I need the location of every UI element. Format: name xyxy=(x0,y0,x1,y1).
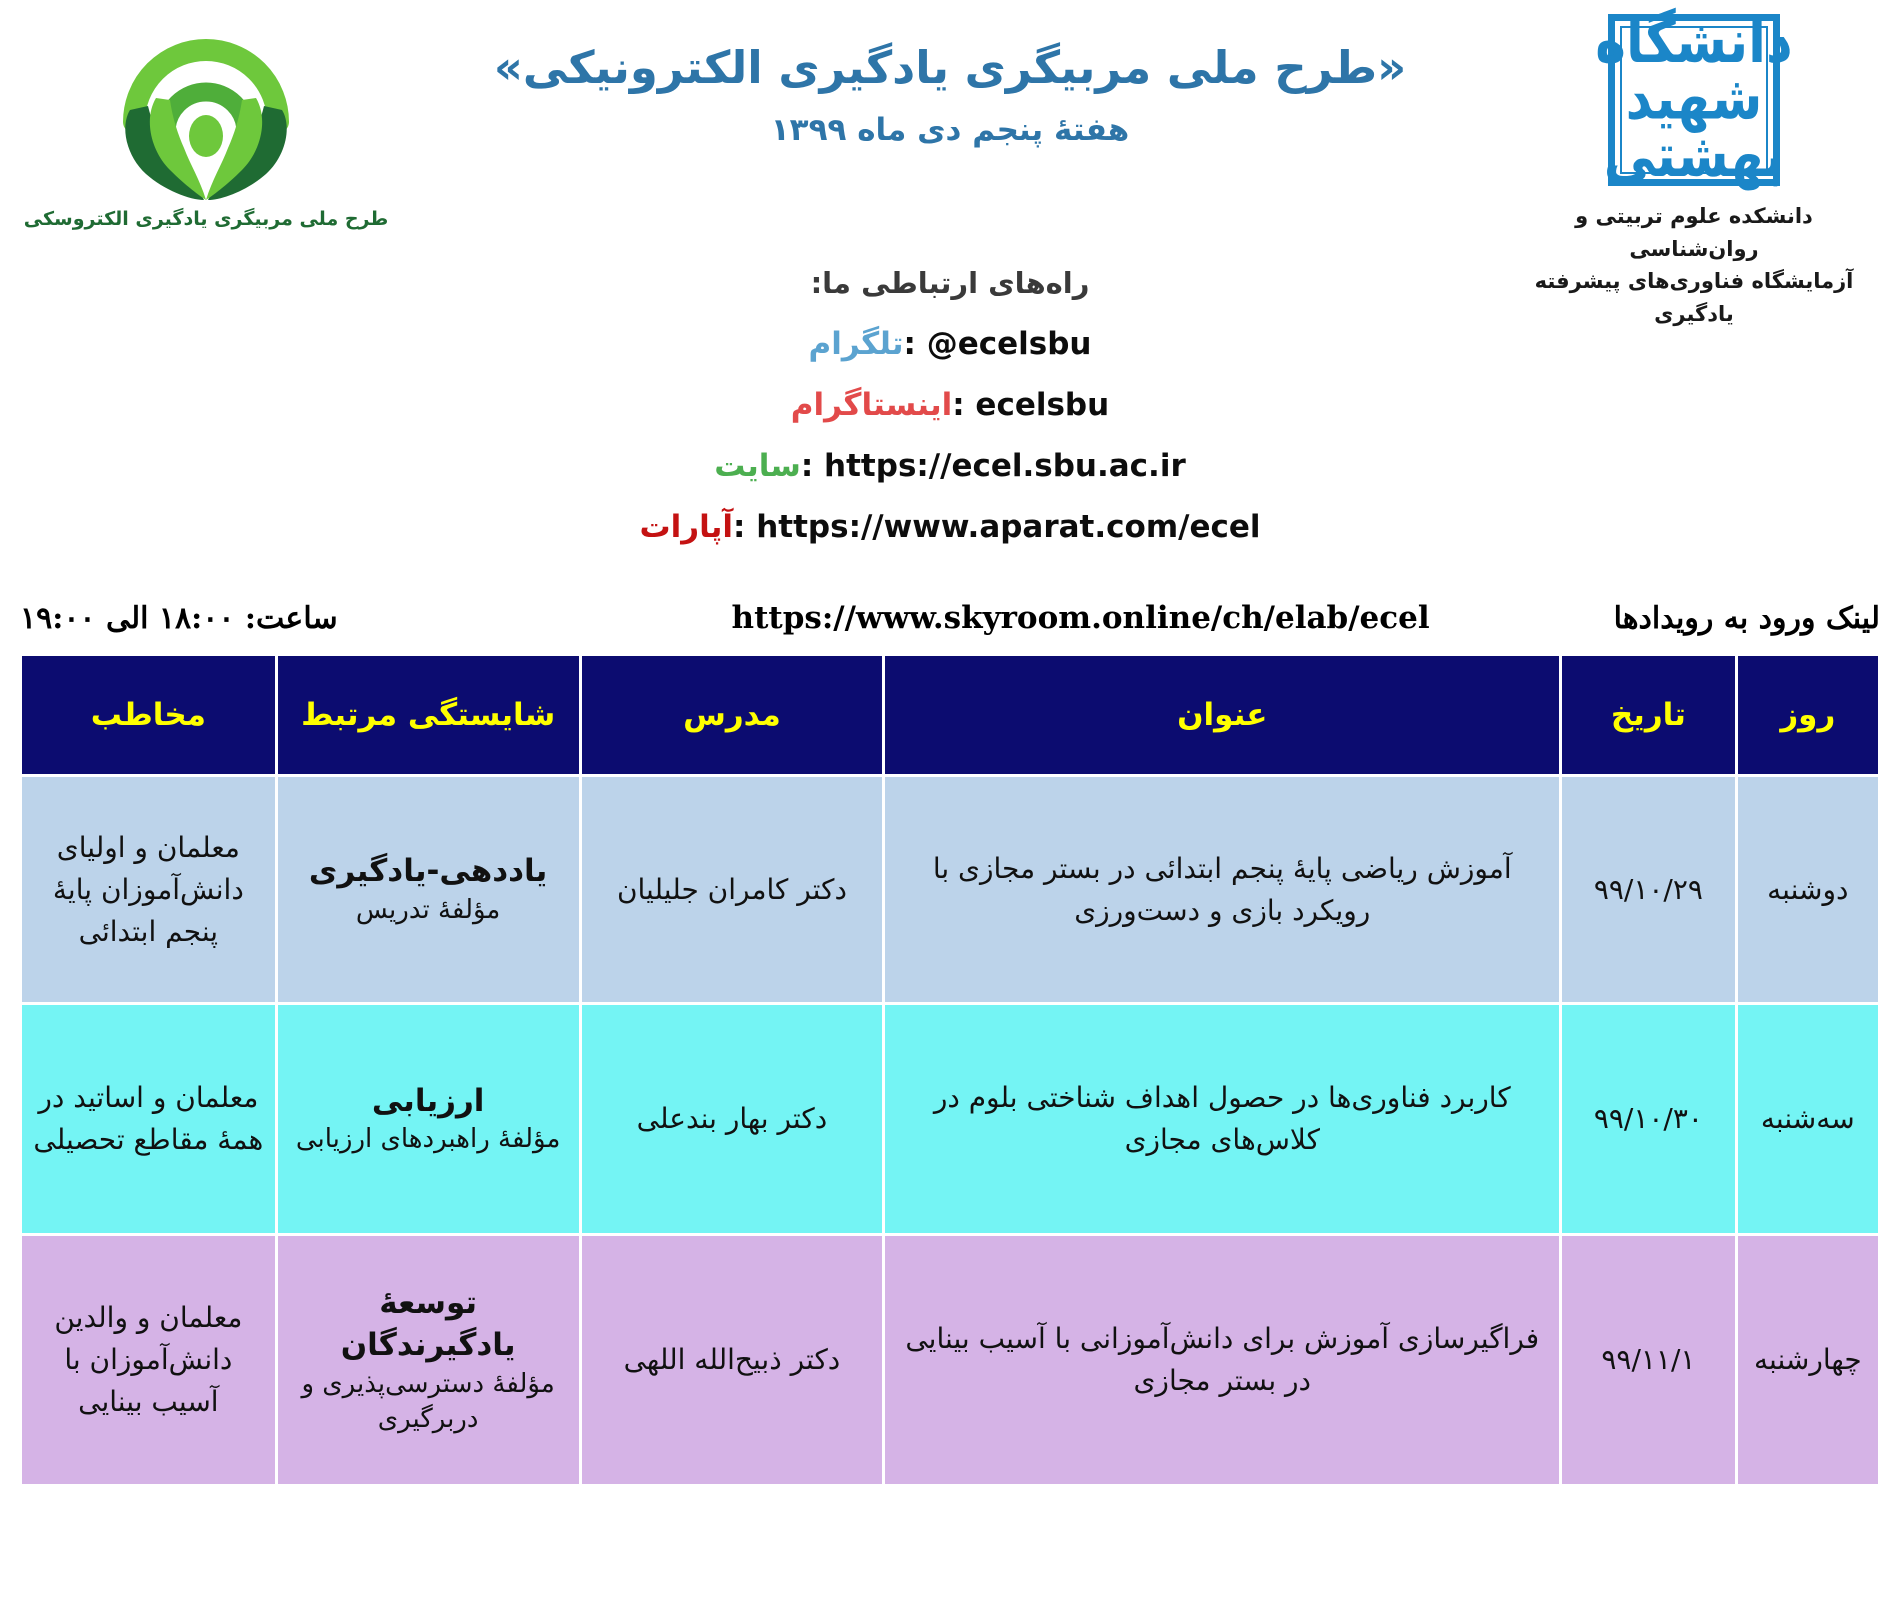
table-row: دوشنبه ۹۹/۱۰/۲۹ آموزش ریاضی پایۀ پنجم اب… xyxy=(22,777,1878,1002)
cell-teacher: دکتر بهار بندعلی xyxy=(582,1005,883,1233)
colon-separator: : xyxy=(903,326,915,362)
column-header-teacher: مدرس xyxy=(582,656,883,774)
national-plan-logo-caption: طرح ملی مربیگری یادگیری الکتروسکی xyxy=(24,208,388,230)
column-header-competency: شایستگی مرتبط xyxy=(278,656,579,774)
contact-row-aparat: https://www.aparat.com/ecel :آپارات xyxy=(0,509,1900,545)
cell-audience: معلمان و والدین دانش‌آموزان با آسیب بینا… xyxy=(22,1236,275,1484)
table-row: سه‌شنبه ۹۹/۱۰/۳۰ کاربرد فناوری‌ها در حصو… xyxy=(22,1005,1878,1233)
contact-row-website: https://ecel.sbu.ac.ir :سایت xyxy=(0,448,1900,484)
university-logo-block: دانشگاه شهید بهشتی دانشکده علوم تربیتی و… xyxy=(1514,14,1874,330)
page-subtitle: هفتۀ پنجم دی ماه ۱۳۹۹ xyxy=(386,112,1514,148)
page-title: «طرح ملی مربیگری یادگیری الکترونیکی» xyxy=(386,40,1514,96)
cell-competency: توسعۀ یادگیرندگان مؤلفۀ دسترسی‌پذیری و د… xyxy=(278,1236,579,1484)
skyroom-event-url[interactable]: https://www.skyroom.online/ch/elab/ecel xyxy=(732,600,1430,636)
title-block: «طرح ملی مربیگری یادگیری الکترونیکی» هفت… xyxy=(386,14,1514,148)
event-link-label: لینک ورود به رویدادها xyxy=(1614,601,1880,636)
contact-row-instagram: ecelsbu :اینستاگرام xyxy=(0,387,1900,423)
table-header-row: روز تاریخ عنوان مدرس شایستگی مرتبط مخاطب xyxy=(22,656,1878,774)
competency-main: ارزیابی xyxy=(288,1081,569,1123)
table-row: چهارشنبه ۹۹/۱۱/۱ فراگیرسازی آموزش برای د… xyxy=(22,1236,1878,1484)
faculty-name: دانشکده علوم تربیتی و روان‌شناسی xyxy=(1514,200,1874,265)
schedule-table: روز تاریخ عنوان مدرس شایستگی مرتبط مخاطب… xyxy=(19,653,1881,1487)
cell-competency: ارزیابی مؤلفۀ راهبردهای ارزیابی xyxy=(278,1005,579,1233)
cell-title: آموزش ریاضی پایۀ پنجم ابتدائی در بستر مج… xyxy=(885,777,1559,1002)
column-header-date: تاریخ xyxy=(1562,656,1734,774)
cell-title: کاربرد فناوری‌ها در حصول اهداف شناختی بل… xyxy=(885,1005,1559,1233)
competency-sub: مؤلفۀ دسترسی‌پذیری و دربرگیری xyxy=(288,1367,569,1437)
cell-audience: معلمان و اولیای دانش‌آموزان پایۀ پنجم اب… xyxy=(22,777,275,1002)
cell-audience: معلمان و اساتید در همۀ مقاطع تحصیلی xyxy=(22,1005,275,1233)
column-header-day: روز xyxy=(1738,656,1878,774)
cell-day: دوشنبه xyxy=(1738,777,1878,1002)
contact-row-telegram: @ecelsbu :تلگرام xyxy=(0,326,1900,362)
university-caption: دانشکده علوم تربیتی و روان‌شناسی آزمایشگ… xyxy=(1514,200,1874,330)
website-label: سایت xyxy=(714,448,801,484)
aparat-label: آپارات xyxy=(639,509,733,545)
cell-title: فراگیرسازی آموزش برای دانش‌آموزانی با آس… xyxy=(885,1236,1559,1484)
colon-separator: : xyxy=(801,448,813,484)
cell-day: چهارشنبه xyxy=(1738,1236,1878,1484)
telegram-value[interactable]: @ecelsbu xyxy=(927,326,1092,362)
cell-teacher: دکتر کامران جلیلیان xyxy=(582,777,883,1002)
competency-sub: مؤلفۀ راهبردهای ارزیابی xyxy=(288,1122,569,1157)
cell-competency: یاددهی-یادگیری مؤلفۀ تدریس xyxy=(278,777,579,1002)
logo-calligraphy-text: دانشگاه شهید بهشتی xyxy=(1595,15,1792,185)
page-header: طرح ملی مربیگری یادگیری الکتروسکی «طرح م… xyxy=(0,0,1900,300)
session-time-label: ساعت: ۱۸:۰۰ الی ۱۹:۰۰ xyxy=(20,601,338,636)
competency-sub: مؤلفۀ تدریس xyxy=(288,893,569,928)
competency-main: توسعۀ یادگیرندگان xyxy=(288,1283,569,1367)
lab-name: آزمایشگاه فناوری‌های پیشرفته یادگیری xyxy=(1514,265,1874,330)
cell-date: ۹۹/۱۰/۲۹ xyxy=(1562,777,1734,1002)
colon-separator: : xyxy=(952,387,964,423)
cell-date: ۹۹/۱۰/۳۰ xyxy=(1562,1005,1734,1233)
shahid-beheshti-university-logo-icon: دانشگاه شهید بهشتی xyxy=(1608,14,1780,186)
colon-separator: : xyxy=(733,509,745,545)
column-header-title: عنوان xyxy=(885,656,1559,774)
instagram-value[interactable]: ecelsbu xyxy=(975,387,1109,423)
instagram-label: اینستاگرام xyxy=(791,387,952,423)
cell-day: سه‌شنبه xyxy=(1738,1005,1878,1233)
cell-date: ۹۹/۱۱/۱ xyxy=(1562,1236,1734,1484)
website-value[interactable]: https://ecel.sbu.ac.ir xyxy=(824,448,1186,484)
telegram-label: تلگرام xyxy=(809,326,904,362)
national-plan-logo-icon xyxy=(100,14,312,204)
cell-teacher: دکتر ذبیح‌الله اللهی xyxy=(582,1236,883,1484)
aparat-value[interactable]: https://www.aparat.com/ecel xyxy=(756,509,1260,545)
national-plan-logo-block: طرح ملی مربیگری یادگیری الکتروسکی xyxy=(26,14,386,230)
column-header-audience: مخاطب xyxy=(22,656,275,774)
event-link-bar: ساعت: ۱۸:۰۰ الی ۱۹:۰۰ https://www.skyroo… xyxy=(0,591,1900,645)
competency-main: یاددهی-یادگیری xyxy=(288,851,569,893)
